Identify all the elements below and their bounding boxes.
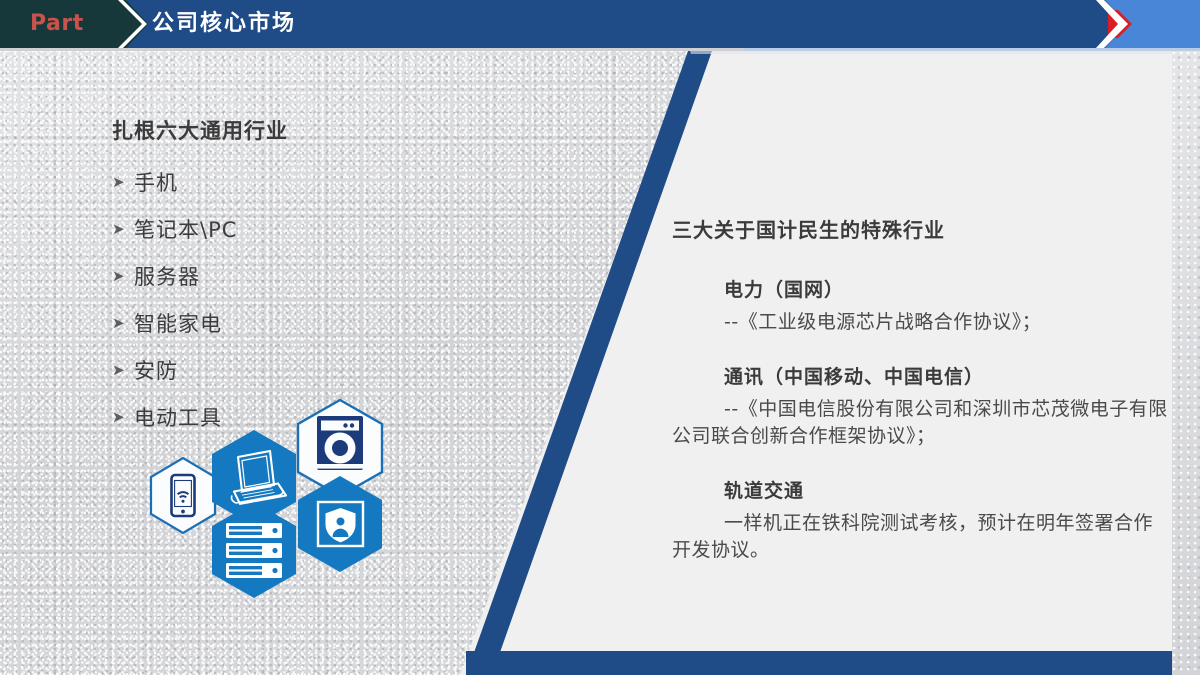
list-item-label: 服务器 <box>134 261 200 291</box>
left-heading: 扎根六大通用行业 <box>112 115 452 145</box>
right-group: 电力（国网） --《工业级电源芯片战略合作协议》； <box>672 275 1172 336</box>
right-group: 通讯（中国移动、中国电信） --《中国电信股份有限公司和深圳市芯茂微电子有限公司… <box>672 362 1172 450</box>
right-group-body: --《中国电信股份有限公司和深圳市芯茂微电子有限公司联合创新合作框架协议》； <box>672 396 1172 450</box>
slide-header: Part 公司核心市场 <box>0 0 1200 48</box>
right-group-body: --《工业级电源芯片战略合作协议》； <box>672 309 1172 336</box>
right-group-title: 轨道交通 <box>724 476 1172 503</box>
server-rack-icon <box>226 523 282 578</box>
right-group-title: 电力（国网） <box>724 275 1172 302</box>
right-group-body: 一样机正在铁科院测试考核，预计在明年签署合作开发协议。 <box>672 510 1172 564</box>
washing-machine-icon <box>317 416 363 470</box>
chevron-bullet-icon: ➤ <box>112 363 134 378</box>
list-item: ➤ 笔记本\PC <box>112 214 452 244</box>
list-item-label: 笔记本\PC <box>134 214 237 244</box>
right-edge-texture <box>1172 51 1200 675</box>
list-item: ➤ 智能家电 <box>112 308 452 338</box>
hexagon-security[interactable] <box>298 476 382 572</box>
slide-root: Part 公司核心市场 扎根六大通用行业 ➤ 手机 ➤ 笔记本\PC ➤ 服务器… <box>0 0 1200 675</box>
right-heading: 三大关于国计民生的特殊行业 <box>672 214 1172 243</box>
right-group-title: 通讯（中国移动、中国电信） <box>724 362 1172 389</box>
right-content-column: 三大关于国计民生的特殊行业 电力（国网） --《工业级电源芯片战略合作协议》； … <box>672 214 1172 590</box>
page-title: 公司核心市场 <box>152 0 296 48</box>
list-item: ➤ 服务器 <box>112 261 452 291</box>
header-part-label: Part <box>30 0 84 48</box>
chevron-bullet-icon: ➤ <box>112 222 134 237</box>
list-item: ➤ 手机 <box>112 167 452 197</box>
chevron-bullet-icon: ➤ <box>112 316 134 331</box>
right-group: 轨道交通 一样机正在铁科院测试考核，预计在明年签署合作开发协议。 <box>672 476 1172 564</box>
header-underline <box>0 48 1200 51</box>
hexagon-server[interactable] <box>212 502 296 598</box>
chevron-bullet-icon: ➤ <box>112 269 134 284</box>
industry-hexagon-cluster <box>148 362 448 624</box>
list-item-label: 手机 <box>134 167 178 197</box>
chevron-bullet-icon: ➤ <box>112 175 134 190</box>
chevron-bullet-icon: ➤ <box>112 410 134 425</box>
list-item-label: 智能家电 <box>134 308 222 338</box>
